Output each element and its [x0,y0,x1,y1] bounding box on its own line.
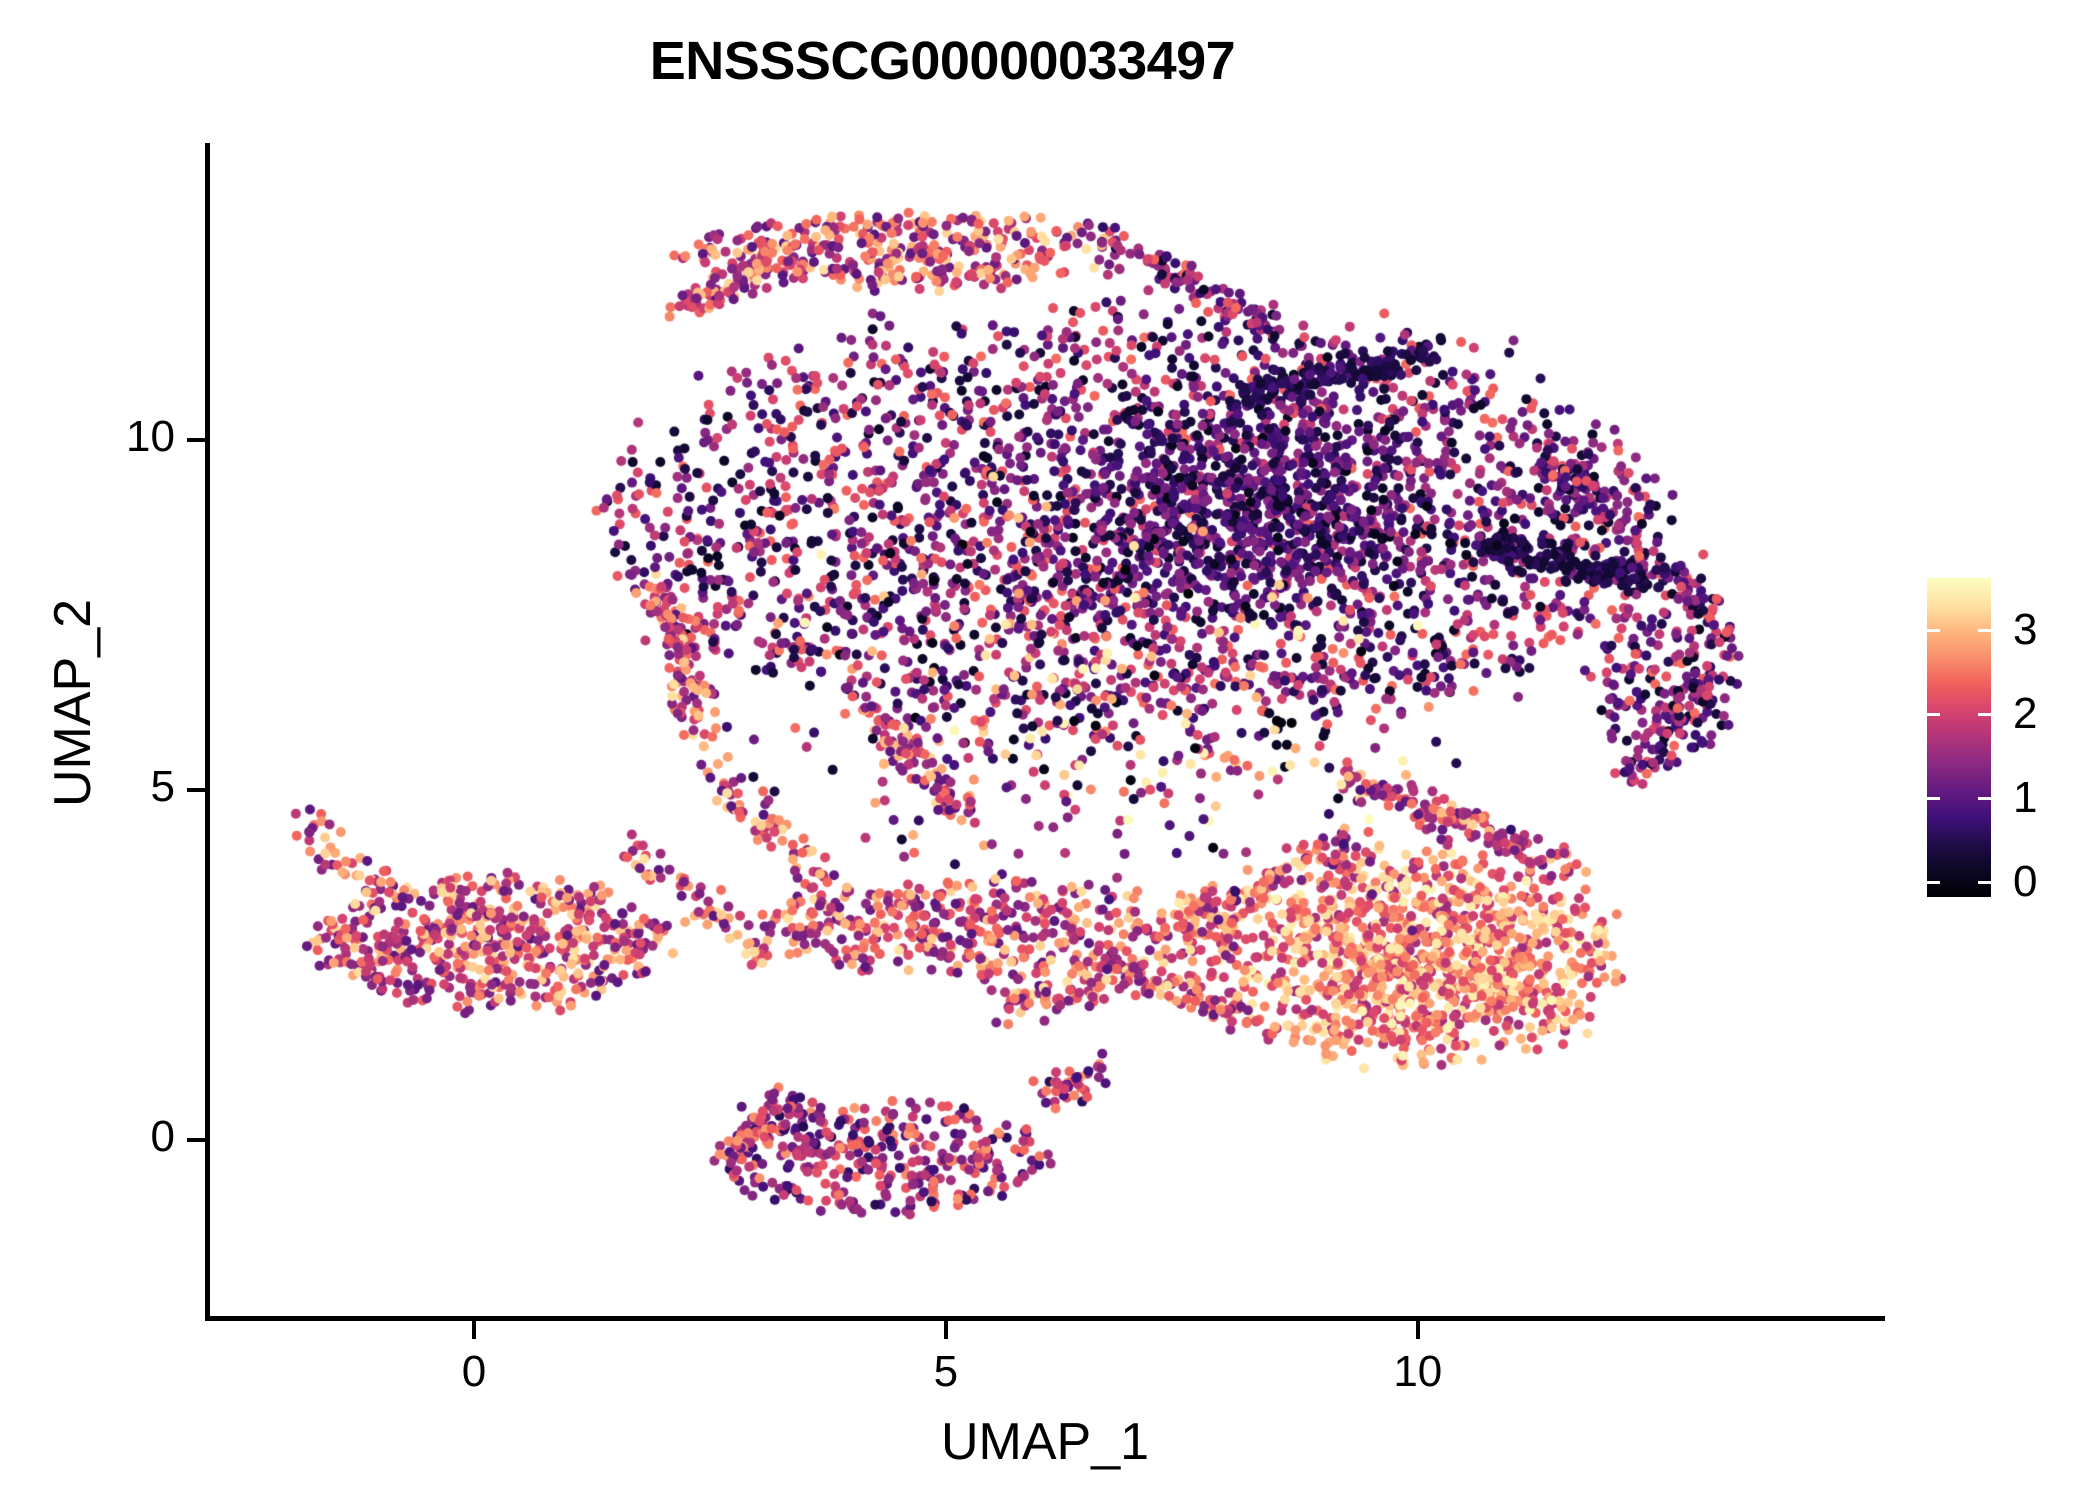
x-axis-title: UMAP_1 [205,1412,1885,1472]
colorbar-tick-2-right [1978,713,1991,716]
page-title: ENSSSCG00000033497 [0,30,1885,92]
colorbar-tick-label-1: 1 [2013,773,2037,823]
colorbar-tick-3-left [1927,629,1940,632]
x-tick-mark-10 [1416,1321,1420,1339]
colorbar-tick-label-2: 2 [2013,689,2037,739]
colorbar-tick-3-right [1978,629,1991,632]
x-tick-mark-0 [472,1321,476,1339]
colorbar-tick-label-0: 0 [2013,857,2037,907]
chart-root: ENSSSCG00000033497 10 5 0 0 5 10 UMAP_1 … [0,0,2100,1500]
scatter-points-layer [205,143,1885,1318]
x-axis-line [205,1316,1885,1321]
colorbar-tick-0-left [1927,881,1940,884]
colorbar-tick-2-left [1927,713,1940,716]
colorbar-tick-1-right [1978,797,1991,800]
y-tick-label-0: 0 [25,1112,175,1162]
x-tick-label-10: 10 [1338,1347,1498,1397]
colorbar-tick-0-right [1978,881,1991,884]
y-axis-title: UMAP_2 [43,353,103,1053]
colorbar-tick-1-left [1927,797,1940,800]
y-tick-mark-5 [187,788,205,792]
x-tick-label-5: 5 [866,1347,1026,1397]
colorbar-tick-label-3: 3 [2013,605,2037,655]
y-tick-mark-0 [187,1138,205,1142]
y-tick-mark-10 [187,438,205,442]
x-tick-mark-5 [944,1321,948,1339]
colorbar-gradient [1927,578,1991,897]
x-tick-label-0: 0 [394,1347,554,1397]
y-axis-line [205,143,210,1321]
colorbar-legend [1927,578,1991,897]
scatter-plot-panel [205,143,1885,1318]
